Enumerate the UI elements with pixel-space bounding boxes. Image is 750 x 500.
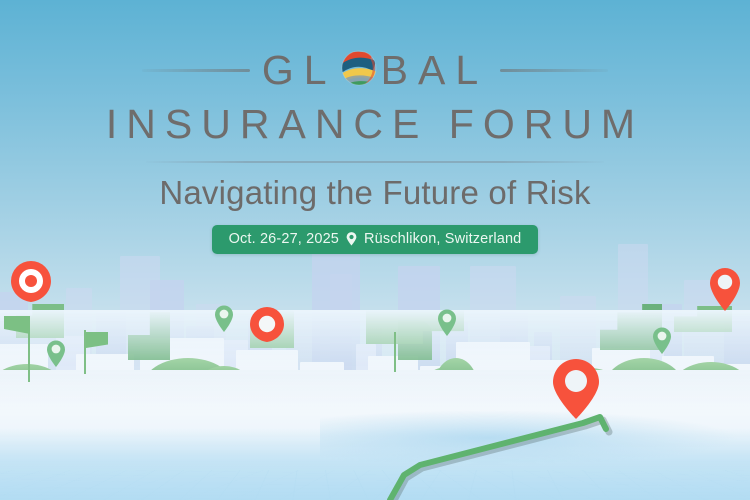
event-tagline: Navigating the Future of Risk (0, 176, 750, 209)
title-letter-l: L (304, 50, 337, 91)
flag-pole (394, 332, 396, 372)
title-letter-b: B (381, 50, 418, 91)
pin-city-right[interactable] (707, 264, 743, 312)
event-details-badge[interactable]: Oct. 26-27, 2025 Rüschlikon, Switzerland (212, 225, 539, 254)
pin-small-c[interactable] (436, 307, 458, 337)
title-letter-g: G (262, 50, 304, 91)
pin-small-d[interactable] (651, 325, 673, 355)
pin-small-a[interactable] (45, 338, 67, 368)
page-title-global: G L (262, 46, 488, 95)
cityscape-illustration (0, 220, 750, 500)
title-line-1-row: G L (0, 46, 750, 95)
pin-city-left[interactable] (8, 262, 54, 324)
pin-city-center-main[interactable] (549, 358, 603, 420)
pin-city-midleft[interactable] (248, 308, 286, 362)
promo-banner: G L (0, 0, 750, 500)
flag-pole (84, 330, 86, 374)
map-pin-icon (346, 232, 357, 246)
title-rule-left (142, 69, 250, 72)
title-rule-right (500, 69, 608, 72)
title-letter-a: A (418, 50, 455, 91)
event-dates: Oct. 26-27, 2025 (229, 231, 339, 247)
map-ground (0, 370, 750, 500)
globe-icon (338, 47, 380, 96)
title-letter-l2: L (455, 50, 488, 91)
pin-small-b[interactable] (213, 303, 235, 333)
event-header: G L (0, 0, 750, 254)
title-divider (146, 161, 604, 163)
page-title-insurance-forum: INSURANCE FORUM (0, 104, 750, 145)
water-body-secondary (320, 410, 740, 466)
event-location: Rüschlikon, Switzerland (364, 231, 521, 247)
